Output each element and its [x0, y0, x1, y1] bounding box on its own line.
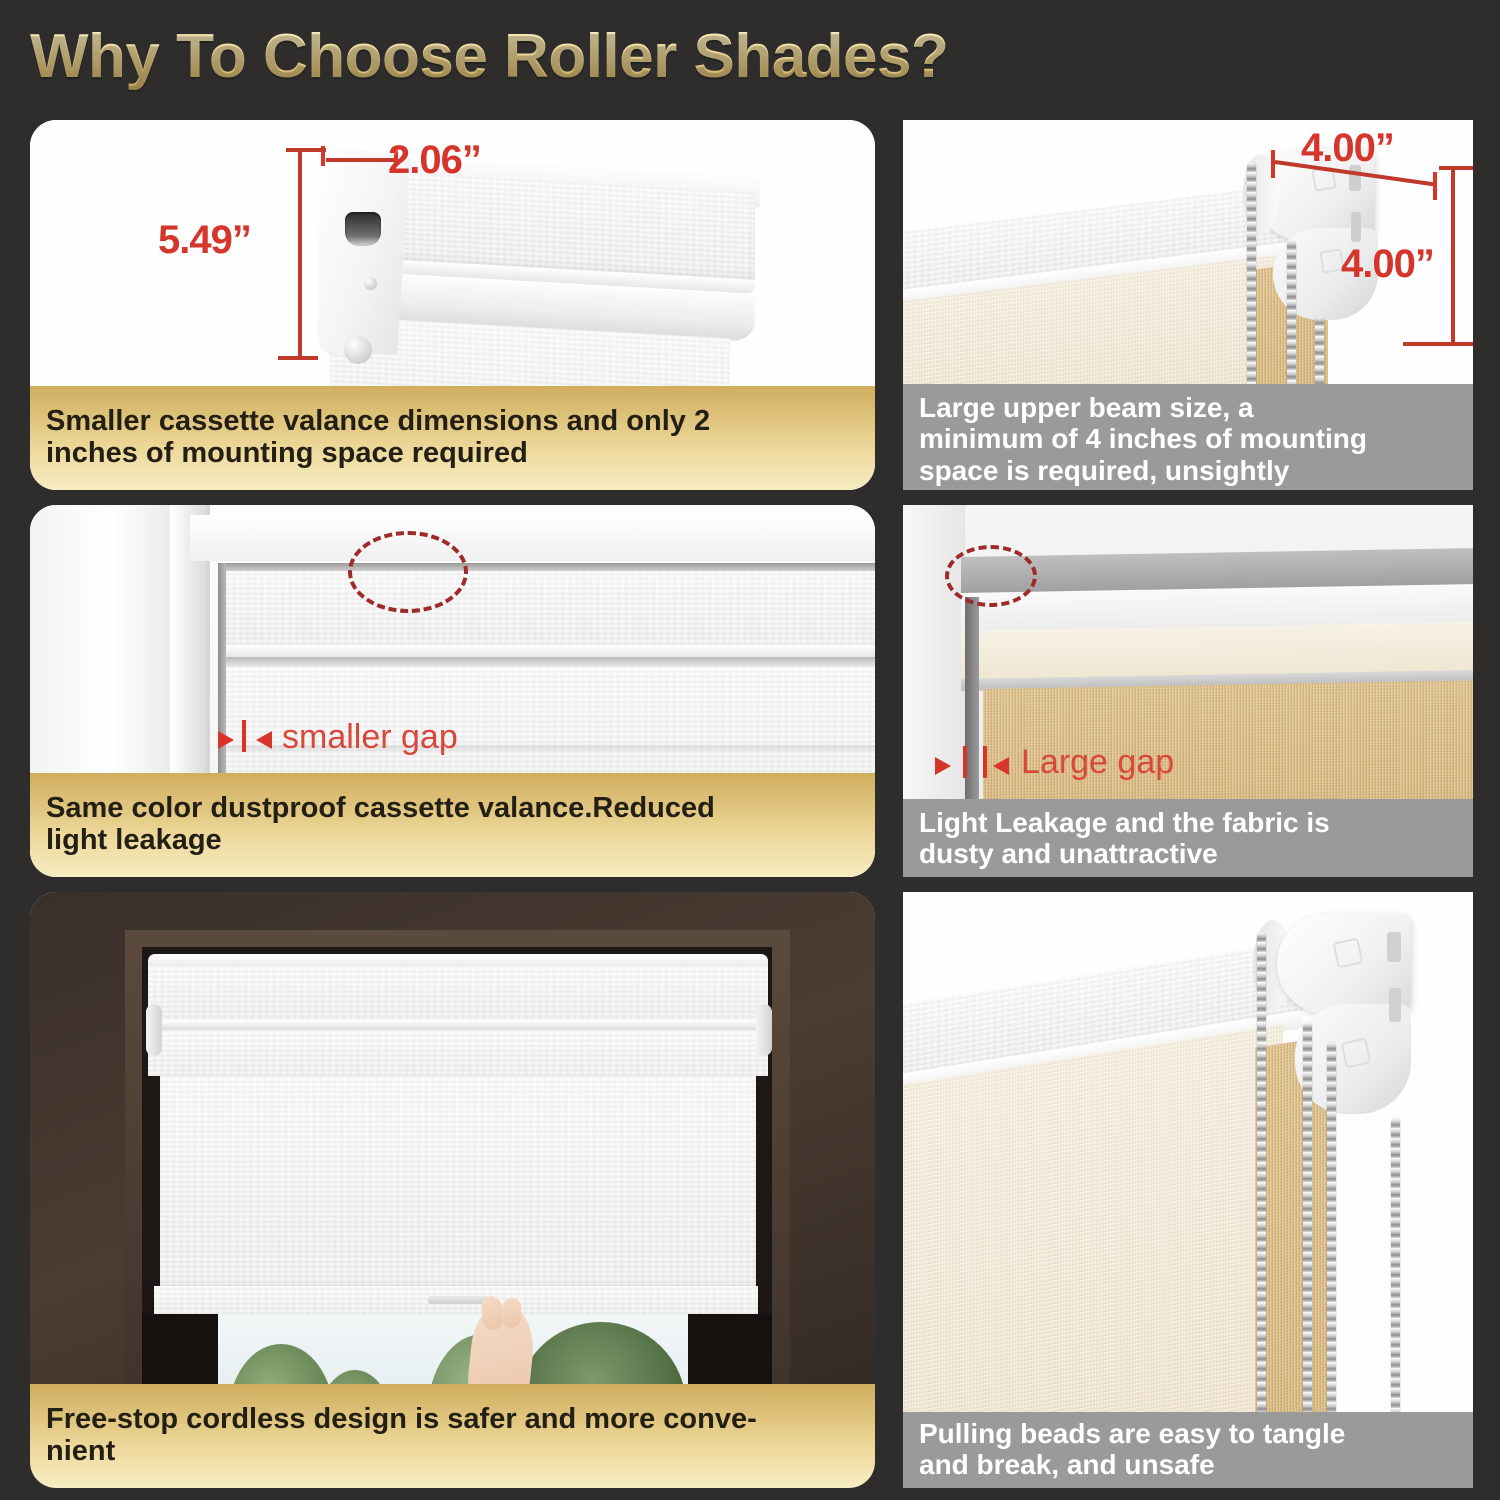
comparison-grid: 2.06” 5.49” Smaller cassette valance dim…	[0, 108, 1500, 1500]
gap-tick	[242, 720, 246, 752]
caption-text: Large upper beam size, a minimum of 4 in…	[919, 392, 1367, 486]
dimension-line-height	[1451, 166, 1455, 346]
gap-tick-right	[983, 746, 987, 778]
page-title: Why To Choose Roller Shades?	[30, 18, 1230, 96]
page-title-container: Why To Choose Roller Shades?	[30, 18, 1230, 96]
highlight-ellipse	[348, 531, 468, 613]
caption-text: Pulling beads are easy to tangle and bre…	[919, 1418, 1345, 1481]
panel-bottom-right-caption: Pulling beads are easy to tangle and bre…	[903, 1412, 1473, 1488]
caption-text: Light Leakage and the fabric is dusty an…	[919, 807, 1330, 870]
infographic-page: Why To Choose Roller Shades?	[0, 0, 1500, 1500]
panel-mid-right: Large gap Light Leakage and the fabric i…	[903, 505, 1473, 877]
panel-bottom-left-caption: Free-stop cordless design is safer and m…	[30, 1384, 875, 1488]
gap-arrow-left	[935, 757, 951, 775]
dimension-line-height	[298, 148, 302, 360]
panel-bottom-right-image	[903, 892, 1473, 1488]
dimension-label-width: 2.06”	[388, 138, 481, 183]
dimension-tick-left	[1271, 150, 1275, 178]
gap-label: smaller gap	[282, 718, 458, 757]
gap-arrow-right	[993, 757, 1009, 775]
dimension-cap-bottom	[278, 356, 318, 360]
dimension-label-height: 5.49”	[158, 218, 251, 263]
dimension-cap-bottom	[1403, 342, 1473, 346]
panel-mid-left-caption: Same color dustproof cassette valance.Re…	[30, 773, 875, 877]
panel-mid-left: smaller gap Same color dustproof cassett…	[30, 505, 875, 877]
panel-top-right-caption: Large upper beam size, a minimum of 4 in…	[903, 384, 1473, 490]
bead-chain	[1257, 932, 1266, 1488]
panel-top-left: 2.06” 5.49” Smaller cassette valance dim…	[30, 120, 875, 490]
gap-arrow-right	[256, 731, 272, 749]
panel-bottom-left: Free-stop cordless design is safer and m…	[30, 892, 875, 1488]
caption-text: Free-stop cordless design is safer and m…	[46, 1403, 757, 1468]
gap-label: Large gap	[1021, 743, 1174, 782]
dimension-cap-top	[286, 148, 326, 152]
dimension-label-height: 4.00”	[1341, 242, 1434, 287]
panel-top-right: 4.00” 4.00” Large upper beam size, a min…	[903, 120, 1473, 490]
panel-top-left-caption: Smaller cassette valance dimensions and …	[30, 386, 875, 490]
caption-text: Same color dustproof cassette valance.Re…	[46, 792, 715, 857]
panel-bottom-right: Pulling beads are easy to tangle and bre…	[903, 892, 1473, 1488]
highlight-ellipse	[945, 545, 1037, 607]
gap-tick-left	[963, 746, 967, 778]
dimension-label-width: 4.00”	[1301, 126, 1394, 171]
panel-mid-right-caption: Light Leakage and the fabric is dusty an…	[903, 799, 1473, 877]
bead-chain	[1247, 162, 1256, 412]
gap-arrow-left	[218, 731, 234, 749]
caption-text: Smaller cassette valance dimensions and …	[46, 405, 710, 470]
dimension-cap-top	[1439, 166, 1473, 170]
dimension-tick-right	[1433, 172, 1437, 200]
